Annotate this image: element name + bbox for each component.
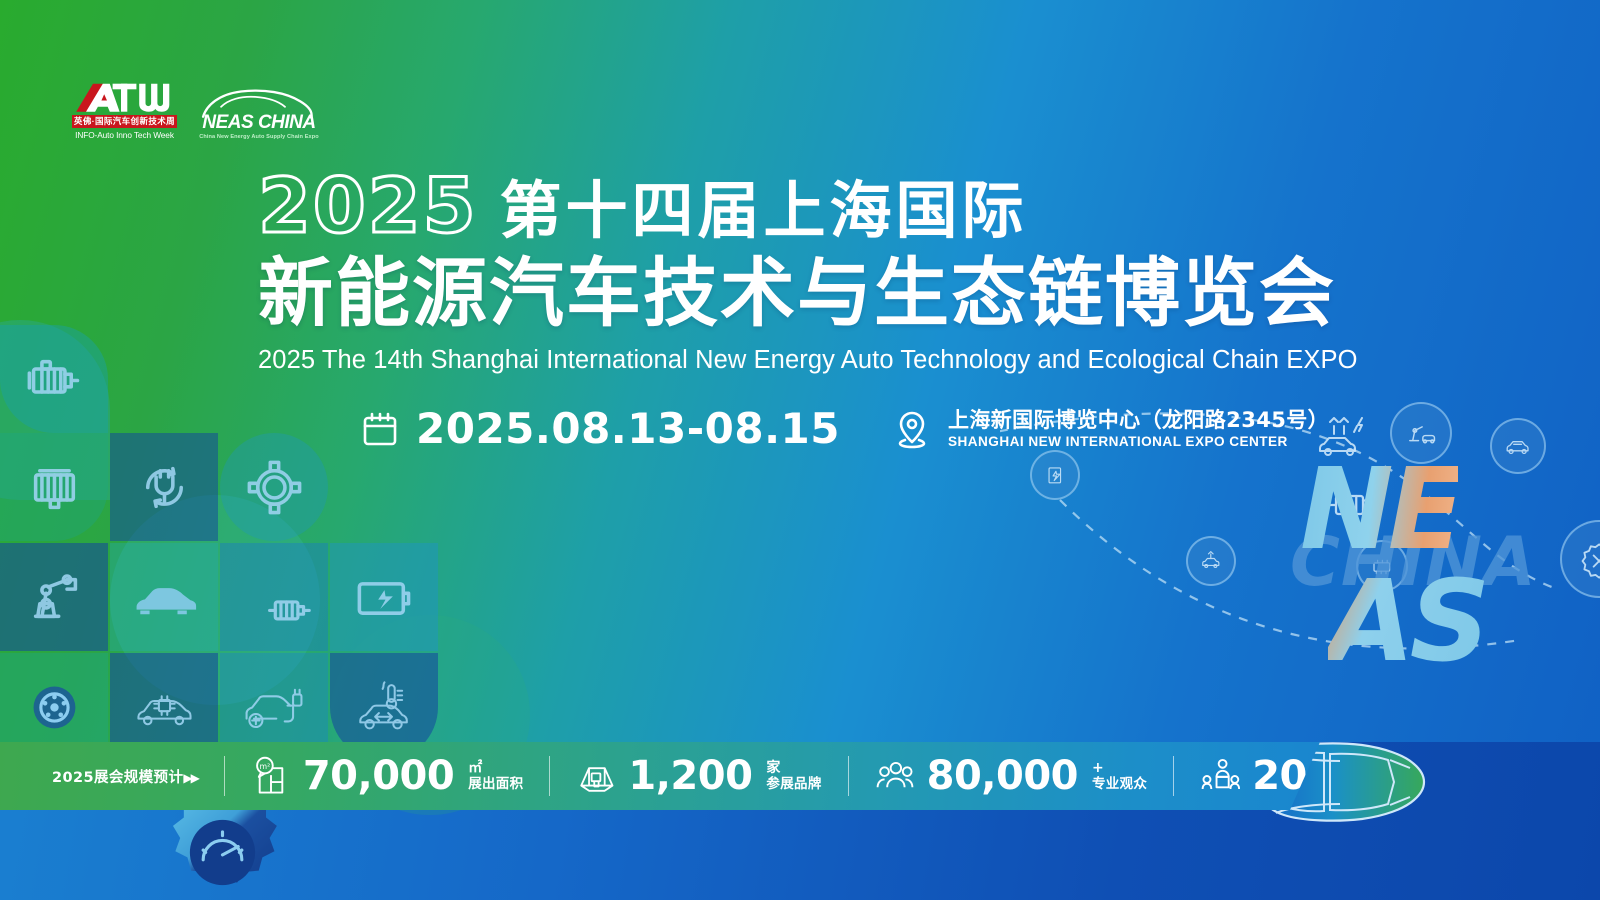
atw-mark-icon xyxy=(72,80,177,114)
bearing-hub-icon xyxy=(241,454,308,521)
mosaic-cell-electric-motor xyxy=(0,325,108,433)
atw-en-caption: INFO-Auto Inno Tech Week xyxy=(72,130,177,140)
conference-speaker-icon xyxy=(1200,756,1240,796)
neas-subtitle: China New Energy Auto Supply Chain Expo xyxy=(199,134,319,140)
logo-group: 英佛·国际汽车创新技术周 INFO-Auto Inno Tech Week NE… xyxy=(72,80,319,140)
mosaic-cell-robot-arm xyxy=(0,543,108,651)
mosaic-cell-car-silhouette xyxy=(110,543,218,651)
mosaic-cell-radiator xyxy=(0,433,108,541)
venue-name-cn: 上海新国际博览中心（龙阳路2345号） xyxy=(948,408,1329,433)
stat-number-brands: 1,200 xyxy=(628,756,752,796)
stats-lead-arrow: ▶▶ xyxy=(183,771,197,785)
event-venue: 上海新国际博览中心（龙阳路2345号） SHANGHAI NEW INTERNA… xyxy=(892,408,1329,450)
area-square-meter-icon: m² xyxy=(251,756,291,796)
stats-lead-text: 2025展会规模预计 xyxy=(52,770,183,786)
tech-icon-charging-station xyxy=(1030,450,1080,500)
event-venue-texts: 上海新国际博览中心（龙阳路2345号） SHANGHAI NEW INTERNA… xyxy=(948,408,1329,450)
calendar-icon xyxy=(360,409,400,449)
atw-wordmark xyxy=(72,80,177,114)
artwork-ne-text: NE xyxy=(1300,455,1458,565)
ev-plug-recycle-icon xyxy=(131,454,198,521)
stat-desc-visitors: 专业观众 xyxy=(1092,776,1147,792)
neas-china-logo: NEAS CHINA China New Energy Auto Supply … xyxy=(199,87,319,140)
atw-logo: 英佛·国际汽车创新技术周 INFO-Auto Inno Tech Week xyxy=(72,80,177,140)
stat-label-visitors: + 专业观众 xyxy=(1092,761,1147,792)
neas-artwork-typography: CHINA NE AS xyxy=(1290,455,1600,670)
stats-separator xyxy=(224,756,225,796)
icon-mosaic xyxy=(0,325,440,750)
svg-text:m²: m² xyxy=(259,762,270,771)
mosaic-cell-battery xyxy=(330,543,438,651)
robot-arm-icon xyxy=(21,564,88,631)
artwork-as-text: AS xyxy=(1328,567,1485,677)
stat-number-area: 70,000 xyxy=(303,756,454,796)
stat-visitors: 80,000 + 专业观众 xyxy=(875,756,1148,796)
connected-car-icon xyxy=(1197,547,1225,575)
headline-year: 2025 xyxy=(258,168,478,244)
stats-separator xyxy=(1173,756,1174,796)
stat-number-visitors: 80,000 xyxy=(927,756,1078,796)
radiator-icon xyxy=(21,454,88,521)
battery-icon xyxy=(351,564,418,631)
event-date: 2025.08.13-08.15 xyxy=(360,404,840,453)
stat-label-area: ㎡ 展出面积 xyxy=(468,761,523,792)
stat-brands: 1,200 家 参展品牌 xyxy=(576,756,821,796)
headline-line-2: 新能源汽车技术与生态链博览会 xyxy=(258,250,1398,336)
exhibition-booth-icon xyxy=(576,756,616,796)
thermal-management-car-icon xyxy=(351,674,418,741)
mosaic-cell-ev-plug-recycle xyxy=(110,433,218,541)
stats-bar: 2025展会规模预计▶▶ m² 70,000 ㎡ 展出面积 xyxy=(0,742,1320,810)
small-motor-icon xyxy=(258,579,318,639)
smart-car-chip-icon xyxy=(131,674,198,741)
stat-unit-area: ㎡ xyxy=(468,761,523,776)
stat-desc-brands: 参展品牌 xyxy=(766,776,821,792)
stat-exhibition-area: m² 70,000 ㎡ 展出面积 xyxy=(251,756,524,796)
mosaic-cell-small-motor xyxy=(220,543,328,651)
stat-desc-area: 展出面积 xyxy=(468,776,523,792)
neas-wordmark: NEAS CHINA xyxy=(199,113,319,133)
visitors-group-icon xyxy=(875,756,915,796)
headline-line-1: 2025 第十四届上海国际 xyxy=(258,168,1398,246)
event-date-text: 2025.08.13-08.15 xyxy=(416,404,840,453)
mosaic-cell-bearing-hub xyxy=(220,433,328,541)
stat-number-events: 20 xyxy=(1252,756,1307,796)
charging-station-icon xyxy=(1041,461,1069,489)
stats-separator xyxy=(848,756,849,796)
stat-label-brands: 家 参展品牌 xyxy=(766,761,821,792)
car-silhouette-icon xyxy=(131,564,198,631)
atw-cn-band: 英佛·国际汽车创新技术周 xyxy=(72,115,177,128)
event-banner: CHINA NE AS 英佛·国际汽车创新技术周 INFO-Auto Inno … xyxy=(0,0,1600,900)
location-pin-icon xyxy=(892,409,932,449)
electric-motor-icon xyxy=(21,346,88,413)
event-meta-row: 2025.08.13-08.15 上海新国际博览中心（龙阳路2345号） SHA… xyxy=(360,404,1329,453)
venue-name-en: SHANGHAI NEW INTERNATIONAL EXPO CENTER xyxy=(948,433,1329,450)
ev-charging-car-icon xyxy=(241,674,308,741)
stats-lead-label: 2025展会规模预计▶▶ xyxy=(52,766,198,787)
stats-separator xyxy=(549,756,550,796)
stat-unit-brands: 家 xyxy=(766,761,821,776)
stat-unit-visitors: + xyxy=(1092,761,1147,776)
brake-disc-icon xyxy=(21,674,88,741)
headline-block: 2025 第十四届上海国际 新能源汽车技术与生态链博览会 2025 The 14… xyxy=(258,168,1398,375)
tech-icon-connected-car xyxy=(1186,536,1236,586)
headline-line1-cn: 第十四届上海国际 xyxy=(500,177,1028,245)
headline-english-subtitle: 2025 The 14th Shanghai International New… xyxy=(258,346,1398,375)
